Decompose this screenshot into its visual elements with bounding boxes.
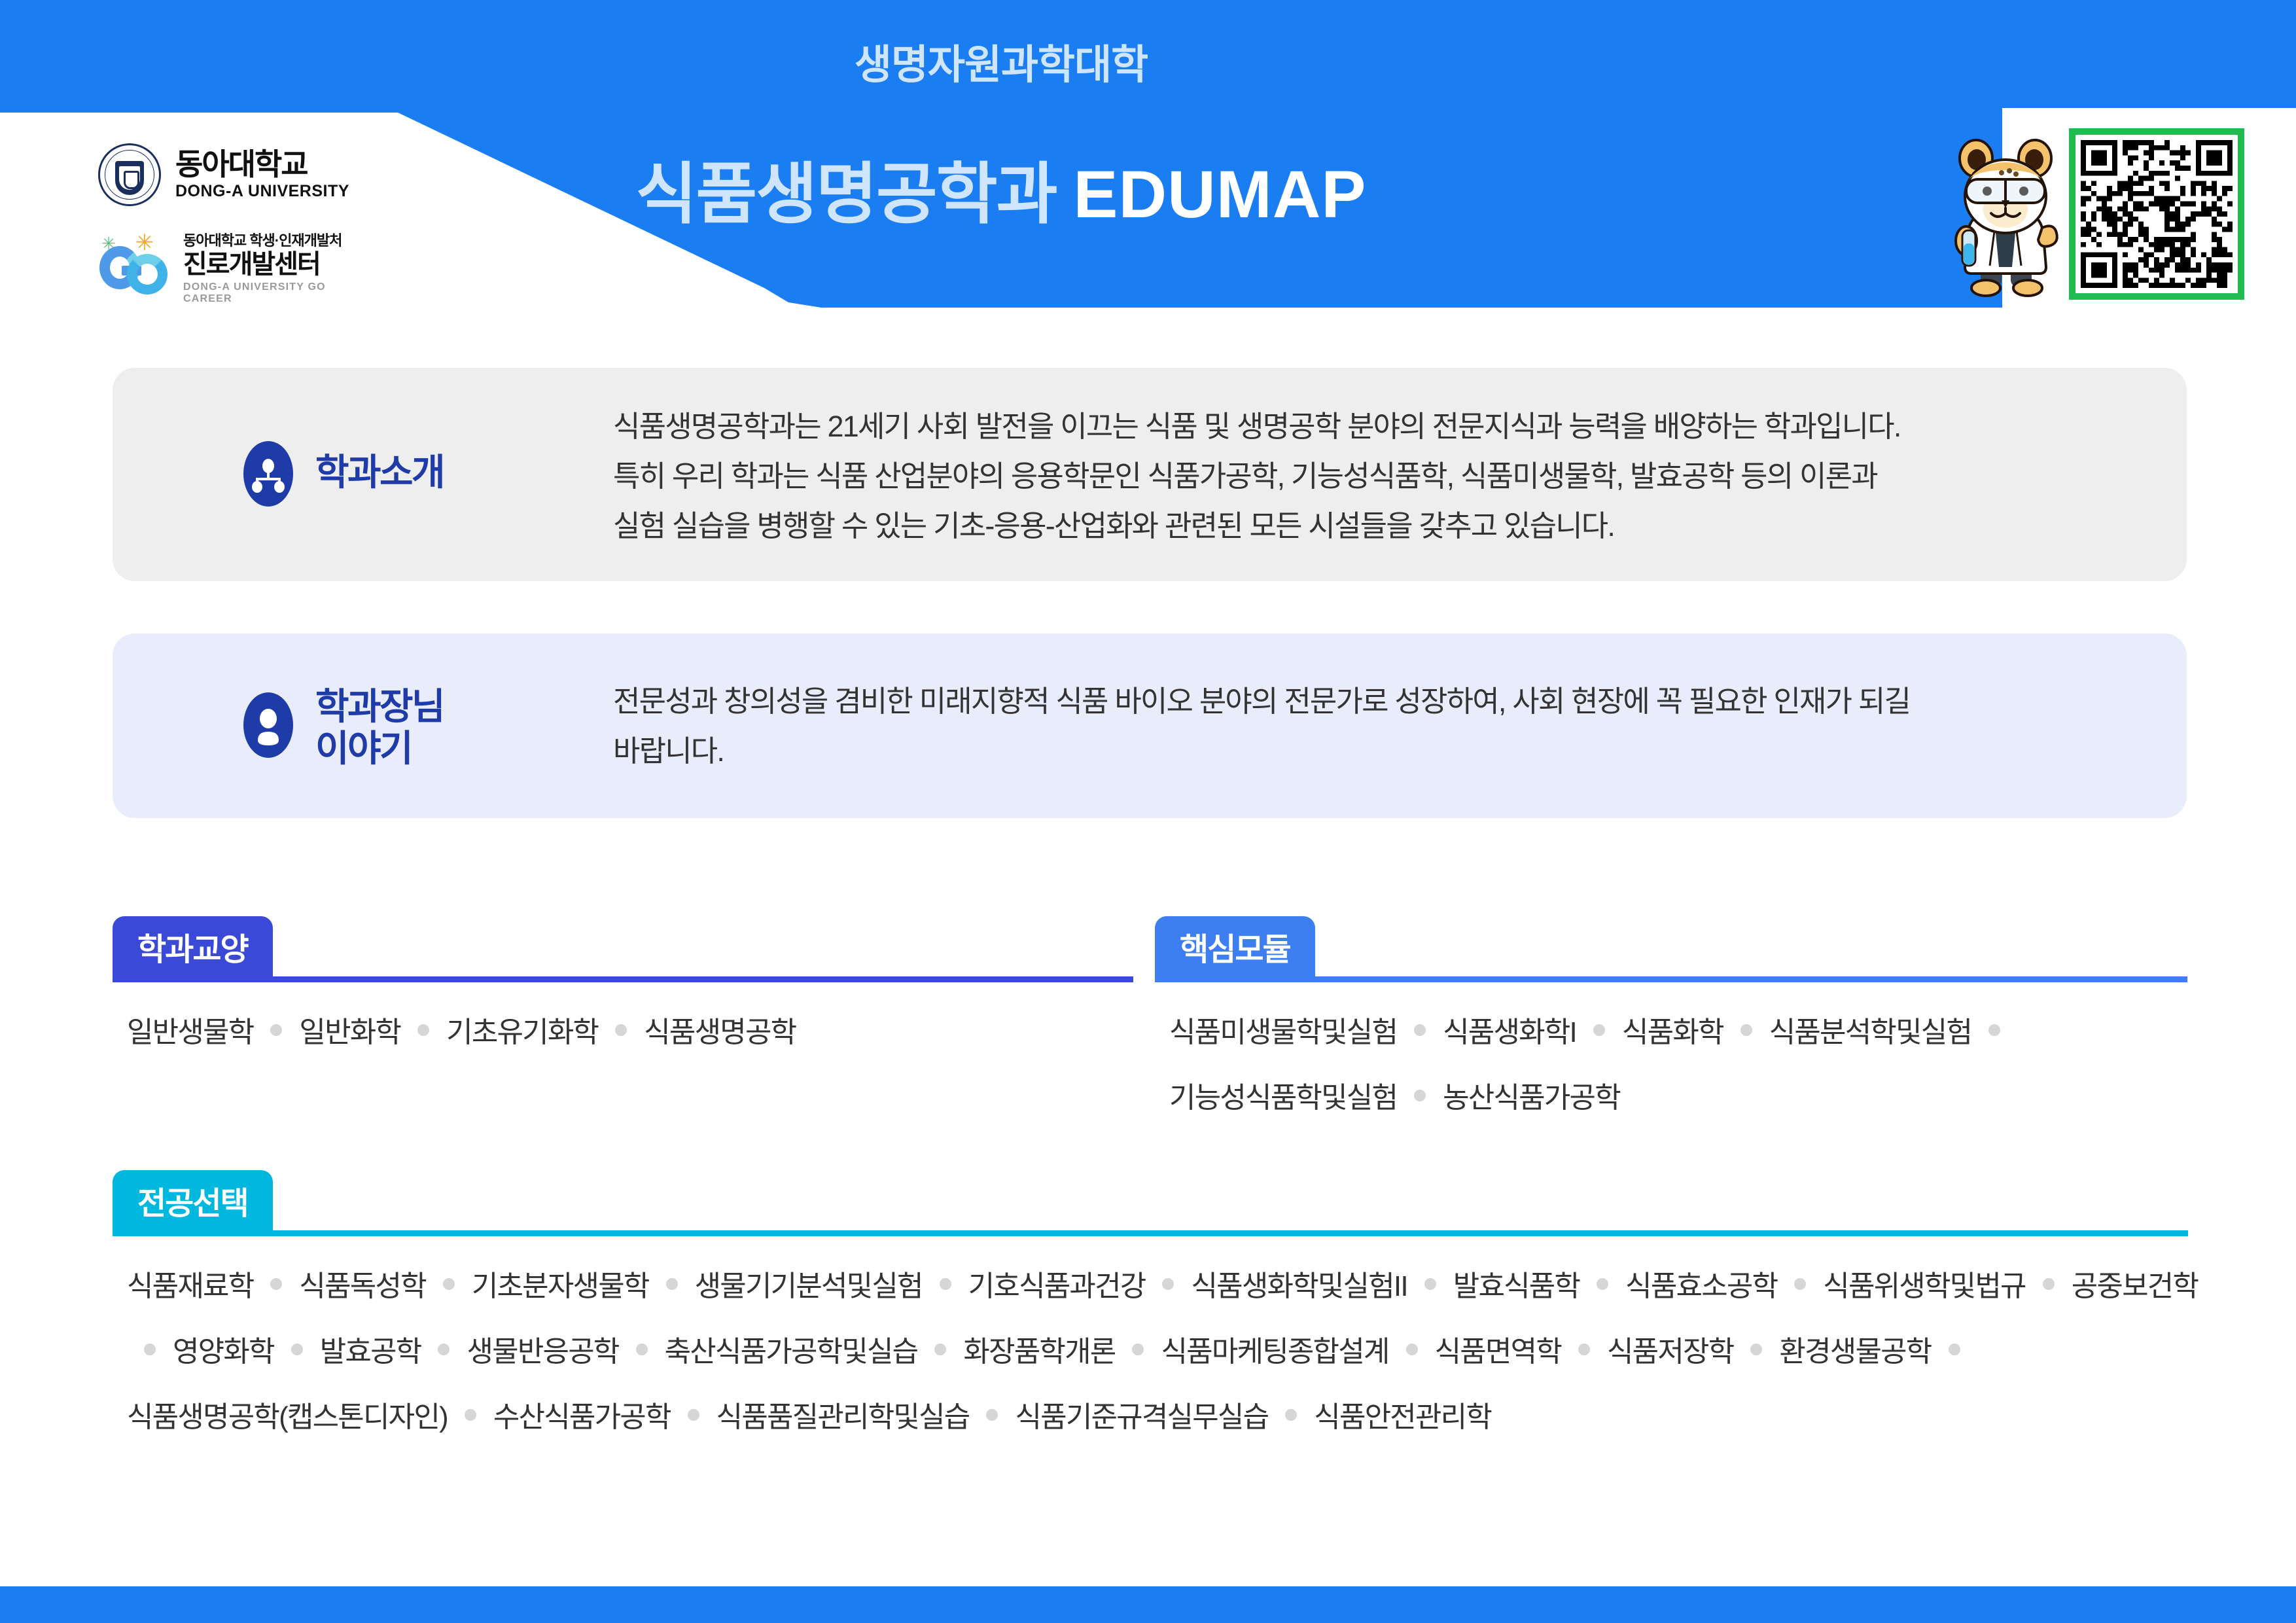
course-item: 식품면역학	[1435, 1319, 1561, 1385]
university-korean-name: 동아대학교	[175, 149, 349, 180]
green-star-icon: ✳	[101, 236, 116, 251]
university-logo: 동아대학교 DONG-A UNIVERSITY	[98, 139, 373, 211]
course-item: 기초분자생물학	[472, 1254, 649, 1319]
course-item: 공중보건학	[2072, 1254, 2198, 1319]
course-separator-dot	[1593, 1024, 1605, 1036]
seal-shield-icon	[115, 161, 144, 195]
course-separator-dot	[986, 1409, 998, 1421]
course-item: 농산식품가공학	[1443, 1065, 1620, 1131]
lab-tiger-mascot-icon	[1947, 124, 2064, 298]
course-item: 기능성식품학및실험	[1169, 1065, 1397, 1131]
course-item: 기호식품과건강	[968, 1254, 1146, 1319]
edumap-label: EDUMAP	[1073, 157, 1366, 232]
course-item: 영양화학	[173, 1319, 274, 1385]
course-item: 식품생화학및실험II	[1191, 1254, 1407, 1319]
career-center-top-line: 동아대학교 학생·인재개발처	[183, 229, 373, 250]
course-separator-dot	[1597, 1278, 1608, 1290]
course-item: 생물반응공학	[467, 1319, 618, 1385]
section-rule	[113, 1230, 2188, 1236]
qr-code-image	[2081, 140, 2233, 288]
course-item: 식품기준규격실무실습	[1015, 1385, 1268, 1450]
tab-liberal-arts[interactable]: 학과교양	[113, 916, 273, 976]
orange-star-icon: ✳	[135, 233, 154, 253]
department-intro-card: 학과소개 식품생명공학과는 21세기 사회 발전을 이끄는 식품 및 생명공학 …	[113, 368, 2187, 581]
course-item: 발효식품학	[1453, 1254, 1580, 1319]
course-list-liberal-arts: 일반생물학일반화학기초유기화학식품생명공학	[127, 1000, 1148, 1065]
org-chart-icon	[243, 441, 293, 507]
course-item: 생물기기분석및실험	[695, 1254, 923, 1319]
course-separator-dot	[417, 1024, 429, 1036]
course-separator-dot	[1406, 1344, 1418, 1355]
course-list-core-module: 식품미생물학및실험식품생화학I식품화학식품분석학및실험기능성식품학및실험농산식품…	[1169, 1000, 2202, 1131]
course-item: 식품안전관리학	[1314, 1385, 1491, 1450]
course-separator-dot	[270, 1278, 282, 1290]
course-separator-dot	[1794, 1278, 1806, 1290]
career-center-logo-text: 동아대학교 학생·인재개발처 진로개발센터 DONG-A UNIVERSITY …	[183, 229, 373, 304]
go-letter-o-icon	[127, 254, 168, 294]
university-seal-icon	[98, 143, 161, 206]
course-separator-dot	[1949, 1344, 1960, 1355]
course-item: 환경생물공학	[1779, 1319, 1931, 1385]
chair-message-title: 학과장님 이야기	[315, 686, 444, 770]
course-item: 화장품학개론	[963, 1319, 1115, 1385]
course-separator-dot	[615, 1024, 627, 1036]
course-item: 식품생명공학	[644, 1000, 796, 1065]
course-separator-dot	[1750, 1344, 1762, 1355]
course-item: 식품생화학I	[1443, 1000, 1576, 1065]
course-separator-dot	[438, 1344, 450, 1355]
university-logo-text: 동아대학교 DONG-A UNIVERSITY	[175, 149, 349, 200]
course-item: 기초유기화학	[446, 1000, 598, 1065]
course-item: 일반화학	[299, 1000, 400, 1065]
course-separator-dot	[1578, 1344, 1590, 1355]
footer-band	[0, 1586, 2296, 1623]
chair-message-body: 전문성과 창의성을 겸비한 미래지향적 식품 바이오 분야의 전문가로 성장하여…	[613, 677, 2144, 776]
tab-major-elective[interactable]: 전공선택	[113, 1170, 273, 1230]
course-item: 식품독성학	[299, 1254, 425, 1319]
course-separator-dot	[144, 1344, 156, 1355]
course-item: 일반생물학	[127, 1000, 253, 1065]
college-name: 생명자원과학대학	[0, 31, 2002, 90]
department-title: 식품생명공학과	[636, 157, 1057, 232]
course-separator-dot	[291, 1344, 303, 1355]
career-center-bottom-line: DONG-A UNIVERSITY GO CAREER	[183, 281, 373, 305]
course-separator-dot	[1414, 1024, 1426, 1036]
course-item: 식품위생학및법규	[1823, 1254, 2025, 1319]
department-intro-title: 학과소개	[315, 452, 444, 493]
course-item: 식품마케팅종합설계	[1161, 1319, 1388, 1385]
career-center-main-line: 진로개발센터	[183, 251, 373, 279]
course-separator-dot	[934, 1344, 946, 1355]
course-separator-dot	[465, 1409, 476, 1421]
course-separator-dot	[636, 1344, 648, 1355]
course-separator-dot	[666, 1278, 678, 1290]
course-separator-dot	[1740, 1024, 1752, 1036]
course-separator-dot	[1162, 1278, 1174, 1290]
course-item: 식품품질관리학및실습	[716, 1385, 970, 1450]
course-item: 식품분석학및실험	[1769, 1000, 1971, 1065]
chair-message-card: 학과장님 이야기 전문성과 창의성을 겸비한 미래지향적 식품 바이오 분야의 …	[113, 633, 2187, 818]
course-separator-dot	[443, 1278, 455, 1290]
university-english-name: DONG-A UNIVERSITY	[175, 182, 349, 201]
course-item: 식품생명공학(캡스톤디자인)	[127, 1385, 448, 1450]
qr-code[interactable]	[2069, 128, 2244, 300]
course-item: 축산식품가공학및실습	[665, 1319, 918, 1385]
course-item: 식품화학	[1622, 1000, 1723, 1065]
course-item: 식품미생물학및실험	[1169, 1000, 1397, 1065]
course-item: 식품재료학	[127, 1254, 253, 1319]
course-item: 발효공학	[320, 1319, 421, 1385]
course-separator-dot	[940, 1278, 951, 1290]
career-center-logo: ✳ ✳ 동아대학교 학생·인재개발처 진로개발센터 DONG-A UNIVERS…	[98, 230, 373, 304]
section-rule	[1155, 976, 2187, 982]
course-separator-dot	[1132, 1344, 1144, 1355]
course-separator-dot	[1414, 1090, 1426, 1101]
course-item: 식품효소공학	[1625, 1254, 1777, 1319]
go-mark-icon: ✳ ✳	[98, 236, 171, 298]
course-separator-dot	[1424, 1278, 1436, 1290]
section-rule	[113, 976, 1133, 982]
tab-core-module[interactable]: 핵심모듈	[1155, 916, 1315, 976]
course-separator-dot	[1285, 1409, 1297, 1421]
person-icon	[243, 692, 293, 758]
logo-block: 동아대학교 DONG-A UNIVERSITY ✳ ✳ 동아대학교 학생·인재개…	[98, 139, 373, 304]
course-item: 식품저장학	[1607, 1319, 1733, 1385]
course-separator-dot	[270, 1024, 282, 1036]
department-intro-body: 식품생명공학과는 21세기 사회 발전을 이끄는 식품 및 생명공학 분야의 전…	[613, 402, 2144, 551]
course-item: 수산식품가공학	[493, 1385, 671, 1450]
course-separator-dot	[1988, 1024, 2000, 1036]
course-list-major-elective: 식품재료학식품독성학기초분자생물학생물기기분석및실험기호식품과건강식품생화학및실…	[127, 1254, 2202, 1450]
course-separator-dot	[2043, 1278, 2055, 1290]
course-separator-dot	[688, 1409, 699, 1421]
